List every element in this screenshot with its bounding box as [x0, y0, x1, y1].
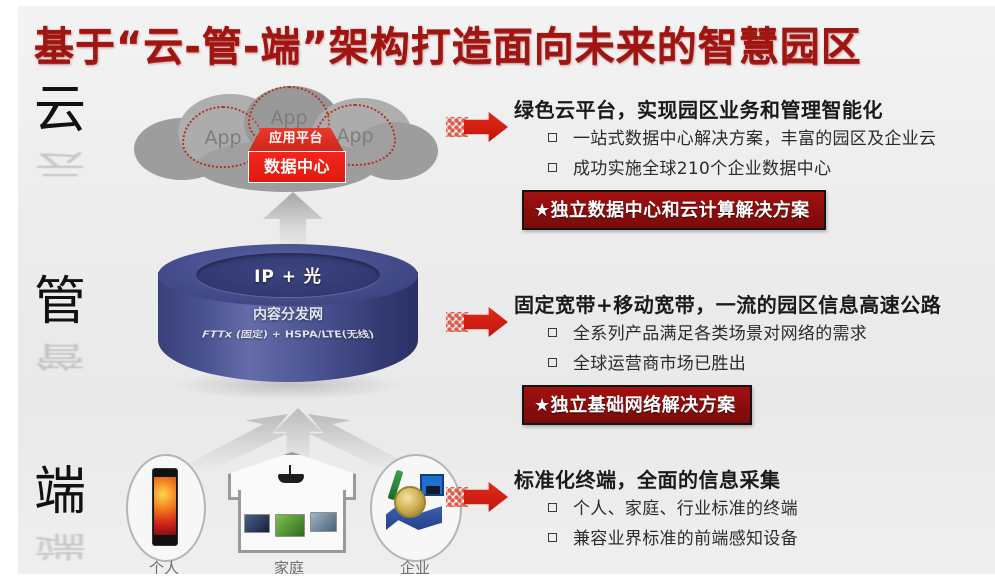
access-point-icon	[278, 474, 304, 483]
layer-label-cloud: 云 云	[34, 84, 86, 190]
block-heading: 固定宽带+移动宽带，一流的园区信息高速公路	[514, 289, 941, 318]
list-item: 个人、家庭、行业标准的终端	[548, 494, 995, 524]
layer-label-terminal-reflection: 端	[34, 532, 86, 561]
bullet-square-icon	[548, 328, 557, 337]
block-heading: 绿色云平台，实现园区业务和管理智能化	[514, 94, 883, 123]
highlight-badge: ★独立数据中心和云计算解决方案	[522, 190, 826, 230]
block-bullet-list: 一站式数据中心解决方案，丰富的园区及企业云 成功实施全球210个企业数据中心	[548, 124, 995, 184]
red-arrow-icon	[446, 110, 508, 144]
list-item: 一站式数据中心解决方案，丰富的园区及企业云	[548, 124, 995, 154]
red-arrow-icon	[446, 305, 508, 339]
cylinder-mid-label: 内容分发网	[158, 304, 418, 324]
list-item-text: 全系列产品满足各类场景对网络的需求	[573, 324, 867, 344]
layer-label-cloud-text: 云	[34, 80, 86, 140]
arrow-head	[464, 112, 508, 142]
red-arrow-icon	[446, 480, 508, 514]
laptop-icon	[244, 514, 270, 533]
bullet-square-icon	[548, 133, 557, 142]
page-title: 基于“云-管-端”架构打造面向未来的智慧园区	[34, 14, 862, 72]
layer-label-terminal: 端 端	[34, 466, 86, 572]
layer-label-cloud-reflection: 云	[34, 150, 86, 179]
smartphone-icon	[130, 458, 198, 554]
highlight-badge: ★独立基础网络解决方案	[522, 385, 752, 425]
block-bullet-list: 个人、家庭、行业标准的终端 兼容业界标准的前端感知设备	[548, 494, 995, 554]
list-item: 兼容业界标准的前端感知设备	[548, 524, 995, 554]
list-item-text: 个人、家庭、行业标准的终端	[573, 499, 798, 519]
layer-label-terminal-text: 端	[34, 462, 86, 522]
list-item-text: 兼容业界标准的前端感知设备	[573, 529, 798, 549]
bullet-square-icon	[548, 358, 557, 367]
device-caption-person: 个人	[119, 557, 209, 574]
list-item: 成功实施全球210个企业数据中心	[548, 154, 995, 184]
list-item: 全系列产品满足各类场景对网络的需求	[548, 319, 995, 349]
arrow-head	[464, 482, 508, 512]
datacenter-box-top-label: 应用平台	[248, 128, 344, 152]
datacenter-box: 应用平台 数据中心	[248, 128, 344, 188]
house-icon	[228, 452, 350, 556]
list-item-text: 一站式数据中心解决方案，丰富的园区及企业云	[573, 129, 936, 149]
bullet-square-icon	[548, 503, 557, 512]
tablet-icon	[310, 512, 337, 532]
bullet-square-icon	[548, 533, 557, 542]
device-caption-home: 家庭	[244, 557, 334, 574]
layer-label-pipe: 管 管	[34, 276, 86, 382]
block-bullet-list: 全系列产品满足各类场景对网络的需求 全球运营商市场已胜出	[548, 319, 995, 379]
list-item-text: 全球运营商市场已胜出	[573, 354, 746, 374]
device-caption-enterprise: 企业	[370, 557, 460, 574]
tv-icon	[275, 514, 305, 537]
gauge-icon	[394, 486, 426, 518]
cloud-illustration: App App App 应用平台 数据中心	[126, 84, 446, 204]
layer-label-pipe-text: 管	[34, 272, 86, 332]
list-item-text: 成功实施全球210个企业数据中心	[573, 159, 831, 179]
block-heading: 标准化终端，全面的信息采集	[514, 464, 781, 493]
list-item: 全球运营商市场已胜出	[548, 349, 995, 379]
smartphone-screen	[152, 468, 178, 546]
cylinder-bottom-label: FTTx (固定) + HSPA/LTE(无线)	[154, 328, 421, 341]
network-cylinder-illustration: IP + 光 内容分发网 FTTx (固定) + HSPA/LTE(无线)	[158, 244, 418, 414]
layer-label-pipe-reflection: 管	[34, 342, 86, 371]
arrow-head	[464, 307, 508, 337]
bullet-square-icon	[548, 163, 557, 172]
datacenter-box-front-label: 数据中心	[248, 151, 346, 183]
slide-canvas: 基于“云-管-端”架构打造面向未来的智慧园区 云 云 管 管 端 端 App A…	[18, 6, 995, 574]
smartphone-wallpaper	[154, 477, 176, 535]
cylinder-top-label: IP + 光	[158, 262, 418, 287]
enterprise-meter-icon	[376, 458, 452, 554]
